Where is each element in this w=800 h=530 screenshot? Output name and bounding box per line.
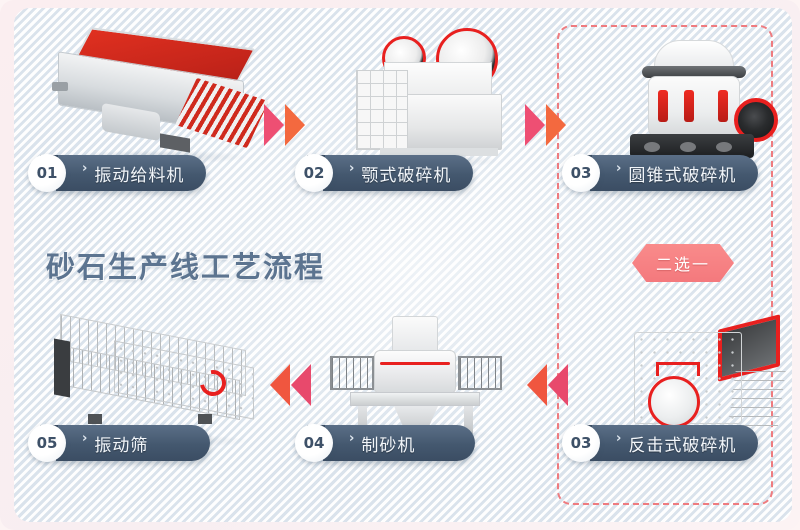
chevron-right-icon: › <box>82 162 87 175</box>
step-name-05: 振动筛 <box>94 431 148 456</box>
chevron-right-icon <box>264 104 284 146</box>
step-label-05[interactable]: 05 › 振动筛 <box>28 424 210 462</box>
step-label-01[interactable]: 01 › 振动给料机 <box>28 154 206 192</box>
choose-one-badge: 二选一 <box>632 244 734 282</box>
machine-cone-crusher <box>614 32 782 164</box>
machine-sand-maker <box>322 314 508 436</box>
step-name-01: 振动给料机 <box>94 161 184 186</box>
step-number-01: 01 <box>28 154 66 192</box>
step-name-04: 制砂机 <box>361 431 415 456</box>
arrow-sand-to-screen <box>270 364 311 406</box>
chevron-left-icon <box>291 364 311 406</box>
step-number-02: 02 <box>295 154 333 192</box>
step-pill-body-04[interactable]: › 制砂机 <box>323 425 475 461</box>
step-name-03-impact: 反击式破碎机 <box>628 431 736 456</box>
chevron-right-icon: › <box>616 162 621 175</box>
step-name-02: 颚式破碎机 <box>361 161 451 186</box>
chevron-right-icon: › <box>616 432 621 445</box>
step-pill-body-05[interactable]: › 振动筛 <box>56 425 210 461</box>
chevron-left-icon <box>270 364 290 406</box>
machine-impact-crusher <box>626 314 784 436</box>
step-label-03-impact[interactable]: 03 › 反击式破碎机 <box>562 424 758 462</box>
step-number-04: 04 <box>295 424 333 462</box>
machine-jaw-crusher <box>350 22 514 162</box>
chevron-right-icon <box>546 104 566 146</box>
step-number-03-cone: 03 <box>562 154 600 192</box>
step-pill-body-02[interactable]: › 颚式破碎机 <box>323 155 473 191</box>
step-pill-body-03-impact[interactable]: › 反击式破碎机 <box>590 425 758 461</box>
chevron-right-icon <box>525 104 545 146</box>
step-pill-body-03-cone[interactable]: › 圆锥式破碎机 <box>590 155 758 191</box>
chevron-left-icon <box>527 364 547 406</box>
step-name-03-cone: 圆锥式破碎机 <box>628 161 736 186</box>
chevron-right-icon <box>285 104 305 146</box>
arrow-feeder-to-jaw <box>264 104 305 146</box>
striped-panel: 砂石生产线工艺流程 二选一 01 › 振动给料机 02 › 颚式破碎机 03 ›… <box>14 8 792 522</box>
chevron-right-icon: › <box>349 432 354 445</box>
step-pill-body-01[interactable]: › 振动给料机 <box>56 155 206 191</box>
chevron-left-icon <box>548 364 568 406</box>
flowchart-canvas: 砂石生产线工艺流程 二选一 01 › 振动给料机 02 › 颚式破碎机 03 ›… <box>0 0 800 530</box>
machine-vibrating-feeder <box>50 30 268 158</box>
arrow-jaw-to-cone <box>525 104 566 146</box>
choose-one-label: 二选一 <box>656 251 710 275</box>
step-label-04[interactable]: 04 › 制砂机 <box>295 424 475 462</box>
step-number-05: 05 <box>28 424 66 462</box>
chevron-right-icon: › <box>349 162 354 175</box>
chevron-right-icon: › <box>82 432 87 445</box>
page-title: 砂石生产线工艺流程 <box>46 244 325 286</box>
step-number-03-impact: 03 <box>562 424 600 462</box>
step-label-03-cone[interactable]: 03 › 圆锥式破碎机 <box>562 154 758 192</box>
step-label-02[interactable]: 02 › 颚式破碎机 <box>295 154 473 192</box>
arrow-impact-to-sand <box>527 364 568 406</box>
